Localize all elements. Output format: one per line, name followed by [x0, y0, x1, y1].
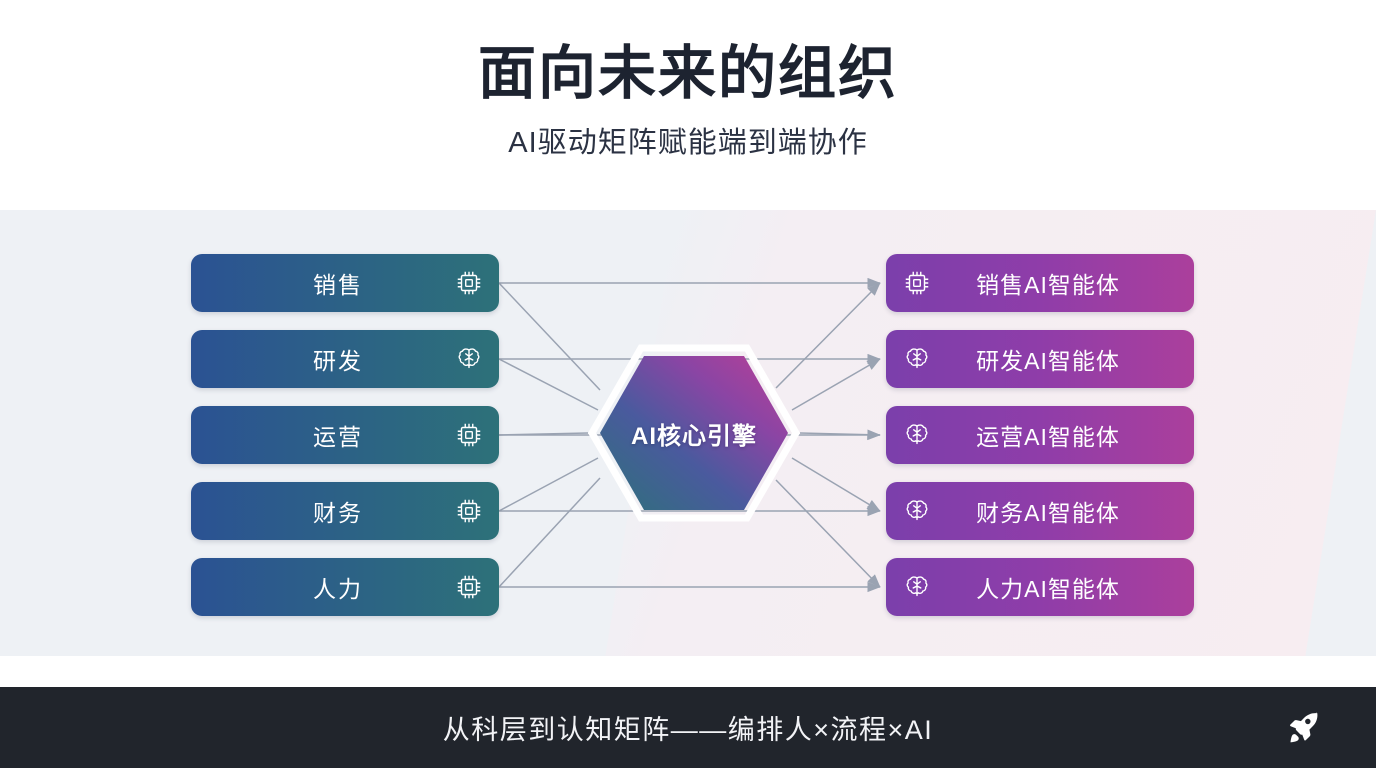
ai-agent-card[interactable]: 运营AI智能体 — [886, 406, 1194, 464]
chip-icon — [439, 420, 499, 450]
page-title: 面向未来的组织 — [478, 42, 898, 107]
brain-icon — [886, 496, 948, 526]
card-label: 财务AI智能体 — [948, 494, 1194, 528]
brain-icon — [439, 344, 499, 374]
card-label: 销售AI智能体 — [948, 266, 1194, 300]
card-label: 运营 — [191, 418, 439, 452]
card-label: 研发AI智能体 — [948, 342, 1194, 376]
business-unit-card[interactable]: 人力 — [191, 558, 499, 616]
ai-core-engine-label: AI核心引擎 — [588, 344, 800, 522]
card-label: 人力AI智能体 — [948, 570, 1194, 604]
business-unit-card[interactable]: 研发 — [191, 330, 499, 388]
card-label: 研发 — [191, 342, 439, 376]
ai-agent-card[interactable]: 研发AI智能体 — [886, 330, 1194, 388]
business-unit-card[interactable]: 财务 — [191, 482, 499, 540]
business-units-column: 销售 研发 — [191, 254, 499, 616]
ai-agent-card[interactable]: 财务AI智能体 — [886, 482, 1194, 540]
chip-icon — [439, 572, 499, 602]
ai-agent-card[interactable]: 人力AI智能体 — [886, 558, 1194, 616]
slide-header: 面向未来的组织 AI驱动矩阵赋能端到端协作 — [0, 0, 1376, 210]
brain-icon — [886, 420, 948, 450]
brain-icon — [886, 344, 948, 374]
slide-footer: 从科层到认知矩阵——编排人×流程×AI — [0, 687, 1376, 768]
business-unit-card[interactable]: 运营 — [191, 406, 499, 464]
chip-icon — [439, 496, 499, 526]
page-subtitle: AI驱动矩阵赋能端到端协作 — [508, 119, 867, 161]
card-label: 人力 — [191, 570, 439, 604]
ai-core-engine[interactable]: AI核心引擎 — [588, 344, 800, 522]
diagram-canvas: 销售 研发 — [0, 210, 1376, 656]
rocket-icon — [1280, 704, 1328, 752]
card-label: 销售 — [191, 266, 439, 300]
footer-caption: 从科层到认知矩阵——编排人×流程×AI — [0, 708, 1376, 747]
brain-icon — [886, 572, 948, 602]
business-unit-card[interactable]: 销售 — [191, 254, 499, 312]
chip-icon — [439, 268, 499, 298]
chip-icon — [886, 268, 948, 298]
card-label: 运营AI智能体 — [948, 418, 1194, 452]
slide: 面向未来的组织 AI驱动矩阵赋能端到端协作 — [0, 0, 1376, 768]
ai-agents-column: 销售AI智能体 研发AI智能体 — [886, 254, 1194, 616]
ai-agent-card[interactable]: 销售AI智能体 — [886, 254, 1194, 312]
diagram-board: 销售 研发 — [0, 210, 1376, 656]
card-label: 财务 — [191, 494, 439, 528]
